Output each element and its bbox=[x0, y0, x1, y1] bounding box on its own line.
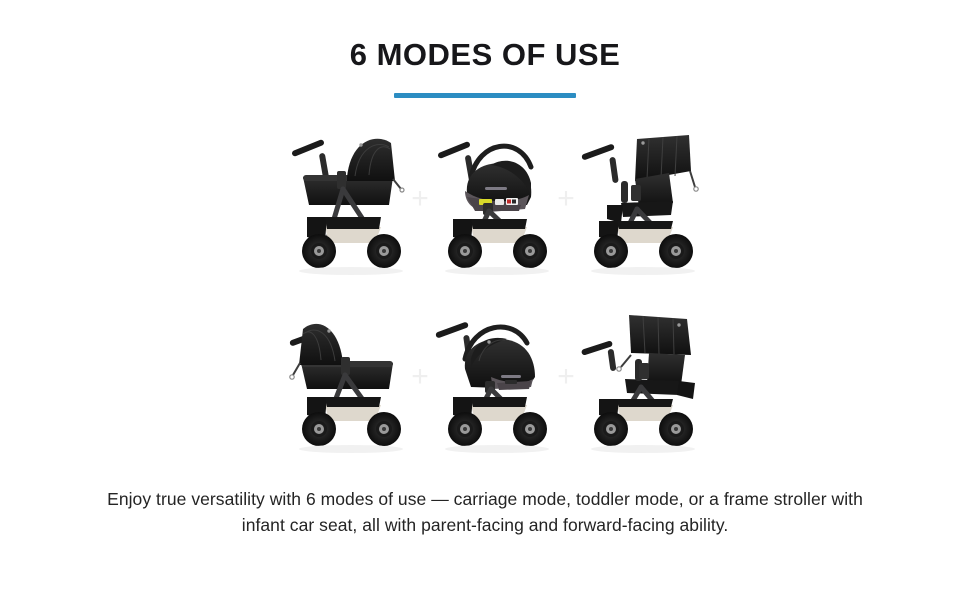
carriage-mode-forward-facing-image bbox=[285, 297, 409, 457]
infant-car-seat-forward-facing-image bbox=[431, 297, 555, 457]
modes-row-parent-facing: + bbox=[285, 118, 685, 280]
plus-separator: + bbox=[409, 362, 431, 392]
title-accent-rule bbox=[394, 93, 576, 98]
page-title: 6 MODES OF USE bbox=[0, 38, 970, 72]
plus-separator: + bbox=[555, 362, 577, 392]
plus-separator: + bbox=[555, 184, 577, 214]
toddler-mode-forward-facing-image bbox=[577, 297, 701, 457]
toddler-mode-parent-facing-image bbox=[577, 119, 701, 279]
modes-row-forward-facing: + bbox=[285, 296, 685, 458]
modes-grid: + bbox=[285, 118, 685, 458]
infant-car-seat-parent-facing-image bbox=[431, 119, 555, 279]
product-feature-panel: 6 MODES OF USE bbox=[0, 0, 970, 600]
carriage-mode-parent-facing-image bbox=[285, 119, 409, 279]
caption-text: Enjoy true versatility with 6 modes of u… bbox=[95, 487, 875, 538]
header: 6 MODES OF USE bbox=[0, 0, 970, 98]
title-underline-wrap bbox=[0, 93, 970, 98]
caption-block: Enjoy true versatility with 6 modes of u… bbox=[0, 487, 970, 538]
plus-separator: + bbox=[409, 184, 431, 214]
